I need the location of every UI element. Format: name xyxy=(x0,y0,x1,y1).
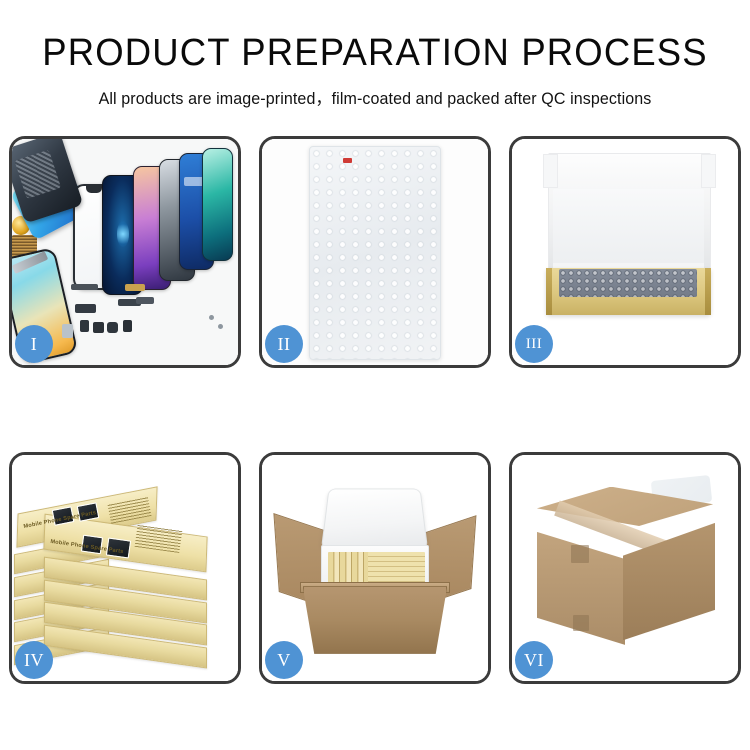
small-component-5 xyxy=(62,324,73,338)
foam-cooler-lid xyxy=(321,489,429,550)
process-step-2[interactable]: II xyxy=(259,136,491,368)
small-component-4 xyxy=(123,320,132,332)
small-component-2 xyxy=(93,322,103,333)
process-step-5[interactable]: V xyxy=(259,452,491,684)
flex-cable-part-4 xyxy=(75,304,95,313)
bubble-wrapped-item-in-box xyxy=(559,269,697,297)
step-badge-3: III xyxy=(515,325,553,363)
process-step-grid: I II xyxy=(9,136,741,684)
product-preparation-page: PRODUCT PREPARATION PROCESS All products… xyxy=(0,0,750,750)
page-header: PRODUCT PREPARATION PROCESS All products… xyxy=(0,0,750,109)
small-component-3 xyxy=(107,322,118,333)
phone-teal-wave-display xyxy=(202,148,234,261)
process-step-3[interactable]: III xyxy=(509,136,741,368)
step-badge-4: IV xyxy=(15,641,53,679)
page-title: PRODUCT PREPARATION PROCESS xyxy=(15,0,735,74)
process-step-4[interactable]: Mobile Phone Spare Parts Mobile Phone Sp… xyxy=(9,452,241,684)
screw-part-2 xyxy=(218,324,223,329)
flex-cable-part-1 xyxy=(71,284,98,290)
bubble-wrap-bag xyxy=(309,146,440,361)
white-foam-padding xyxy=(553,189,704,270)
shipping-carton-body xyxy=(303,586,448,654)
step-badge-2: II xyxy=(265,325,303,363)
screw-part-1 xyxy=(209,315,214,320)
carton-handle-notch-top xyxy=(571,545,589,563)
page-subtitle: All products are image-printed，film-coat… xyxy=(6,74,745,109)
red-qc-label xyxy=(343,158,352,163)
step-badge-1: I xyxy=(15,325,53,363)
flex-cable-part-2 xyxy=(125,284,145,292)
step-badge-5: V xyxy=(265,641,303,679)
process-step-1[interactable]: I xyxy=(9,136,241,368)
step-badge-6: VI xyxy=(515,641,553,679)
small-component-1 xyxy=(80,320,89,332)
flex-cable-part-5 xyxy=(136,297,154,304)
process-step-6[interactable]: VI xyxy=(509,452,741,684)
carton-handle-notch-bottom xyxy=(573,615,589,631)
